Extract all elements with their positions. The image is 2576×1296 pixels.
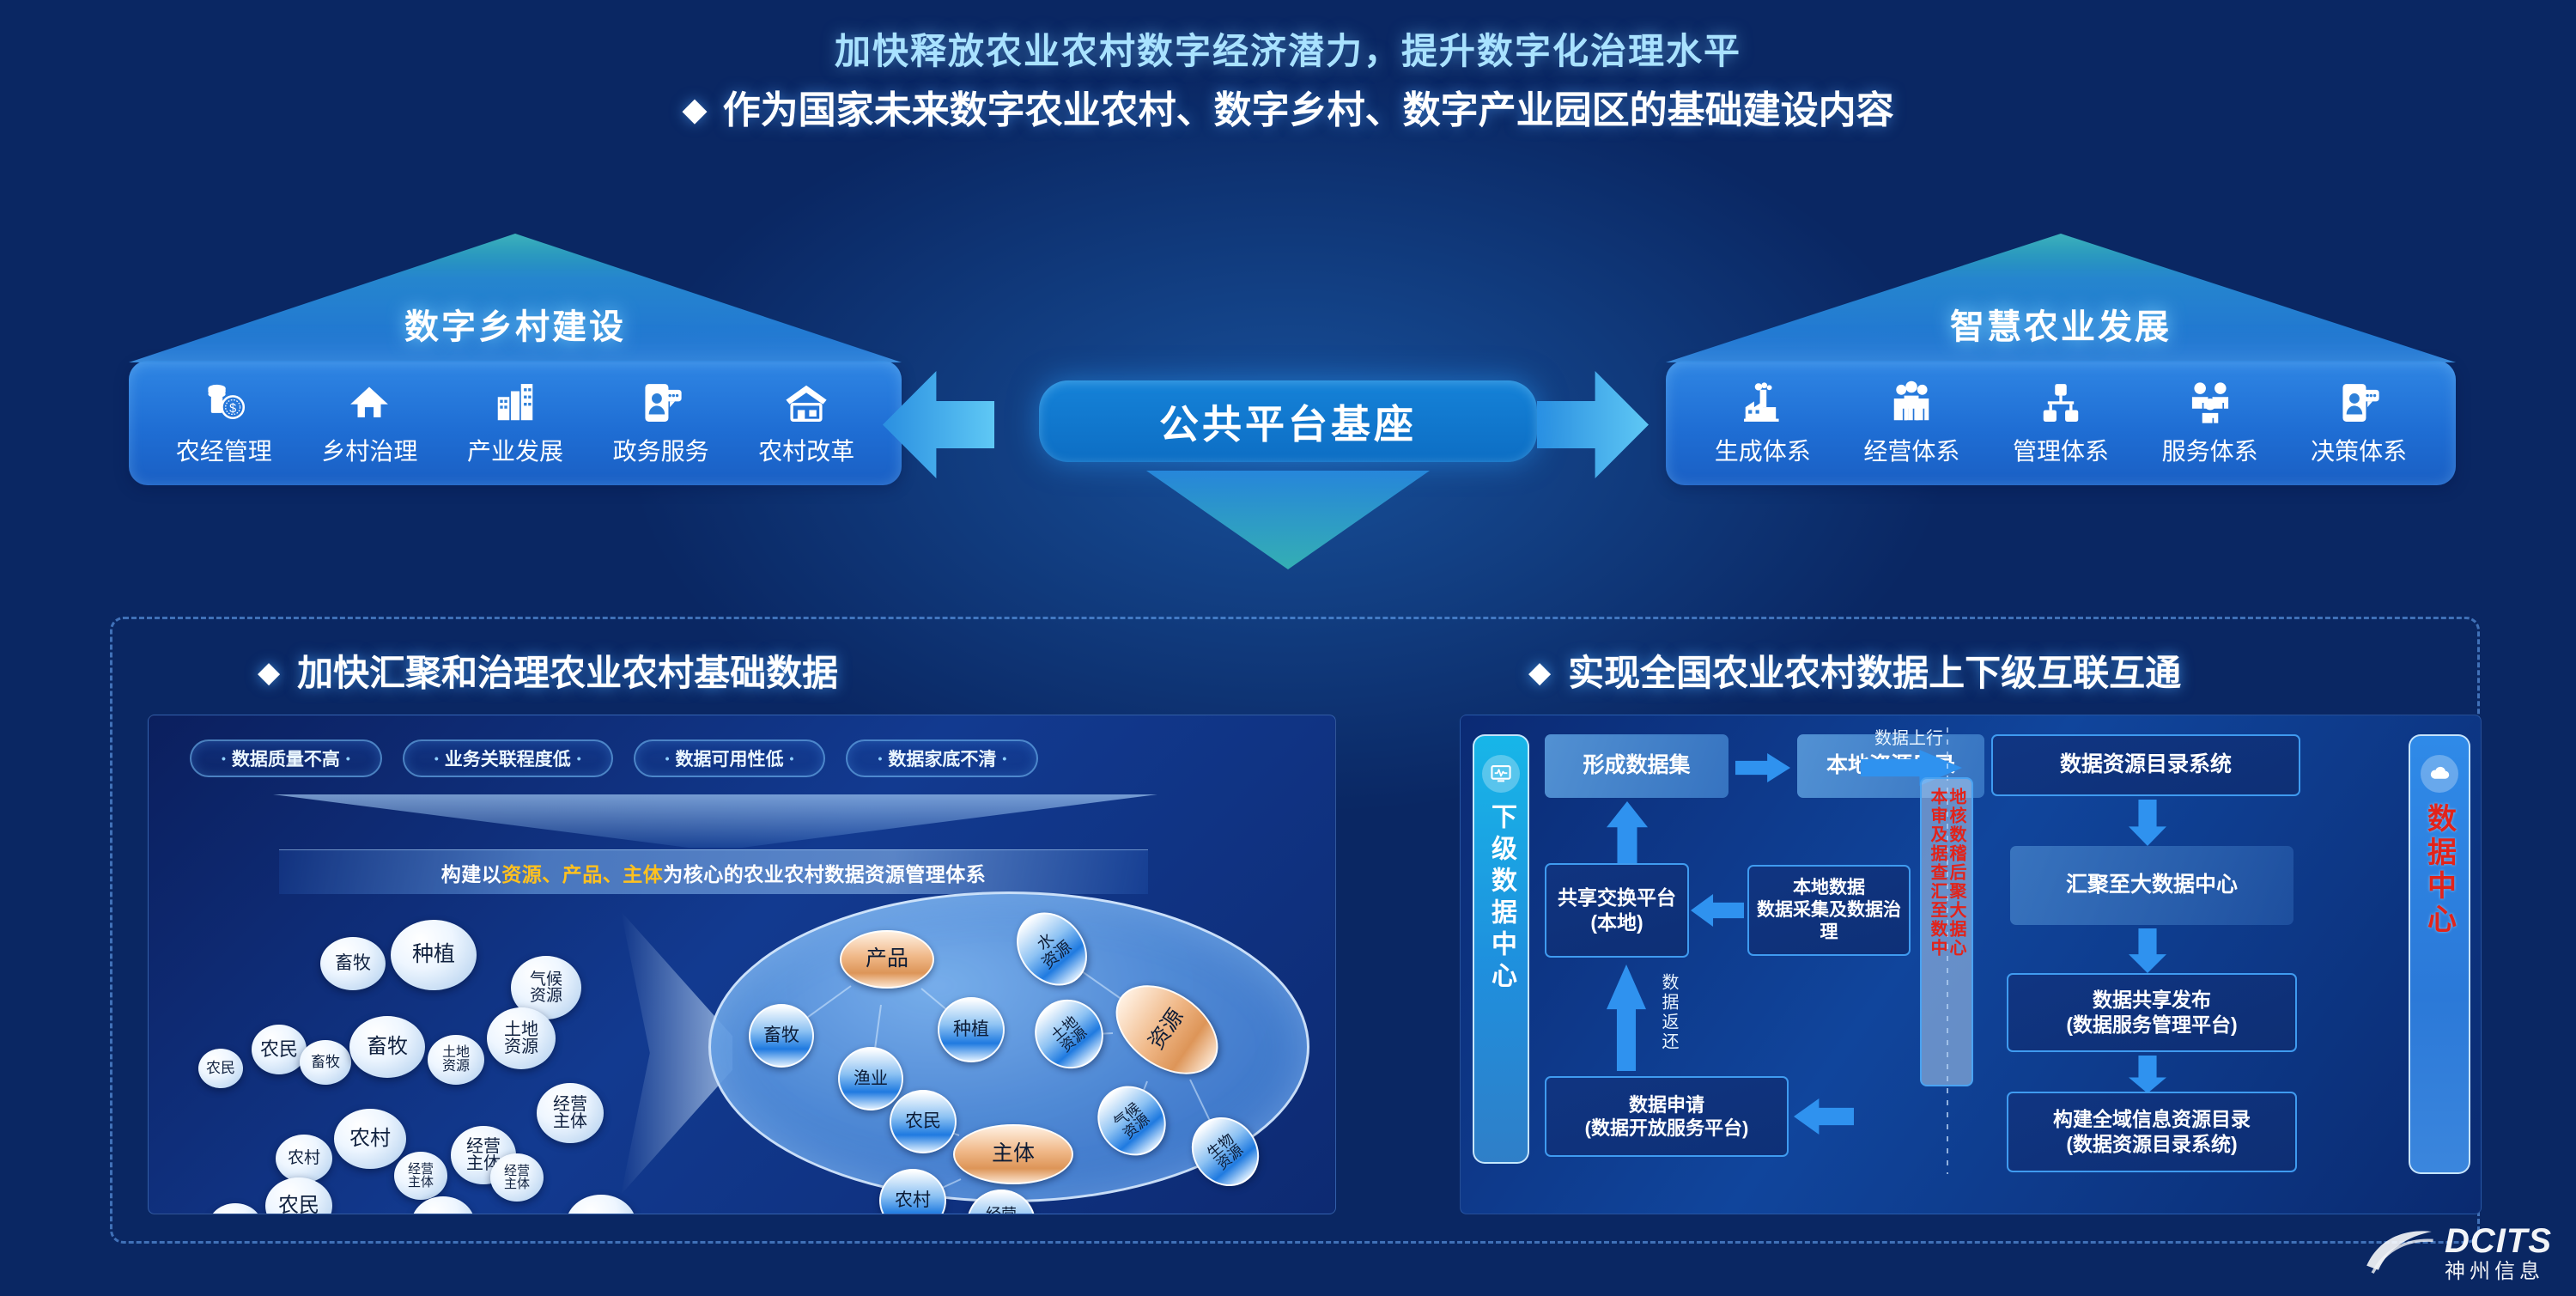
data-bubble: 农村 — [276, 1135, 332, 1183]
arrow-catalog-to-request-icon — [1794, 1098, 1854, 1135]
box-label: 数据资源目录系统 — [2060, 751, 2232, 778]
problem-pill-label: 业务关联程度低 — [445, 745, 571, 771]
node-connector — [805, 986, 852, 1020]
pillar-item-1[interactable]: 乡村治理 — [321, 380, 417, 467]
leaf-node: 农村 — [879, 1169, 946, 1214]
structured-data-ellipse: 产品水 资源资源畜牧种植土地 资源渔业农民气候 资源生物 资源主体农村经营 主体 — [708, 891, 1309, 1202]
pillar-item-4[interactable]: 农村改革 — [758, 380, 854, 467]
box-aggregate-to-bigdata-center[interactable]: 汇聚至大数据中心 — [2010, 846, 2293, 925]
logo-en: DCITS — [2445, 1224, 2552, 1258]
leaf-node: 水 资源 — [1002, 898, 1102, 1000]
node-connector — [1189, 1079, 1212, 1123]
bullet-dot-icon: • — [222, 751, 226, 765]
pillar-item-label: 决策体系 — [2311, 433, 2407, 467]
pillar-item-label: 管理体系 — [2013, 433, 2109, 467]
diamond-bullet-icon: ◆ — [1528, 656, 1551, 689]
data-bubble: 种植 — [391, 920, 477, 990]
core-system-banner: 构建以资源、产品、主体为核心的农业农村数据资源管理体系 — [279, 849, 1148, 894]
pillar-item-label: 政务服务 — [613, 433, 709, 467]
box-data-request[interactable]: 数据申请 (数据开放服务平台) — [1545, 1076, 1789, 1157]
logo-cn: 神州信息 — [2445, 1262, 2552, 1282]
roof-label: 数字乡村建设 — [129, 299, 902, 349]
leaf-node: 经营 主体 — [967, 1190, 1036, 1214]
leaf-node: 土地 资源 — [1021, 986, 1117, 1083]
factory-icon — [1740, 380, 1786, 426]
pillar-item-label: 乡村治理 — [321, 433, 417, 467]
funnel-shape — [273, 794, 1157, 848]
label-data-uplink: 数据上行 — [1874, 724, 1943, 749]
leaf-node: 畜牧 — [749, 1004, 814, 1068]
dcits-swoosh-icon — [2362, 1225, 2436, 1281]
data-bubble: 畜牧 — [300, 1040, 351, 1085]
data-center-bar[interactable]: 数据中心 — [2409, 734, 2470, 1174]
leaf-node: 气候 资源 — [1084, 1072, 1180, 1169]
bullet-dot-icon: • — [665, 751, 670, 765]
box-label: 汇聚至大数据中心 — [2066, 872, 2238, 898]
box-label: 数据共享发布 (数据服务管理平台) — [2066, 988, 2237, 1037]
arrow-platform-to-dataset-icon — [1607, 801, 1648, 863]
pillar-item-0[interactable]: $ 农经管理 — [176, 380, 272, 467]
farmhouse-icon — [783, 380, 829, 426]
box-label: 形成数据集 — [1583, 752, 1690, 779]
center-badge-label: 公共平台基座 — [1159, 393, 1417, 450]
pillar-item-label: 产业发展 — [467, 433, 563, 467]
page-subtitle: ◆作为国家未来数字农业农村、数字乡村、数字产业园区的基础建设内容 — [0, 79, 2576, 134]
bullet-dot-icon: • — [434, 751, 439, 765]
arrow-form-to-catalog-icon — [1735, 753, 1790, 782]
coin-stack-icon: $ — [201, 380, 247, 426]
bullet-dot-icon: • — [790, 751, 794, 765]
page-title: 加快释放农业农村数字经济潜力，提升数字化治理水平 — [0, 22, 2576, 75]
data-bubble: 畜牧 — [320, 937, 386, 990]
node-connector — [920, 989, 948, 1012]
banner-suffix: 为核心的农业农村数据资源管理体系 — [663, 858, 986, 887]
bullet-dot-icon: • — [1002, 751, 1006, 765]
cloud-icon — [2421, 755, 2458, 793]
subtitle-text: 作为国家未来数字农业农村、数字乡村、数字产业园区的基础建设内容 — [723, 89, 1894, 131]
sub-data-center-label: 下级数据中心 — [1482, 803, 1520, 994]
problem-pill-row: •数据质量不高••业务关联程度低••数据可用性低••数据家底不清• — [190, 739, 1038, 777]
problem-pill-label: 数据质量不高 — [232, 745, 340, 771]
box-local-data-collection[interactable]: 本地数据 数据采集及数据治理 — [1747, 865, 1911, 956]
leaf-node: 种植 — [938, 997, 1005, 1062]
roof-shape: 数字乡村建设 — [129, 234, 902, 362]
arrow-down-icon — [1146, 471, 1430, 569]
box-build-global-catalog[interactable]: 构建全域信息资源目录 (数据资源目录系统) — [2007, 1092, 2297, 1172]
box-form-dataset[interactable]: 形成数据集 — [1545, 734, 1728, 798]
problem-pill-label: 数据家底不清 — [888, 745, 996, 771]
box-label: 共享交换平台 (本地) — [1558, 885, 1676, 935]
problem-pill[interactable]: •业务关联程度低• — [403, 739, 613, 777]
slide-canvas: 加快释放农业农村数字经济潜力，提升数字化治理水平 ◆作为国家未来数字农业农村、数… — [0, 0, 2576, 1296]
pillar-item-label: 服务体系 — [2162, 433, 2258, 467]
box-label: 构建全域信息资源目录 (数据资源目录系统) — [2053, 1107, 2251, 1157]
people-group-icon — [1888, 380, 1935, 426]
red-note-col-left: 本审及据查汇至数中 — [1929, 788, 1946, 1076]
red-note-col-right: 地核数稽后聚大据心 — [1947, 788, 1965, 1076]
data-bubble: 经营 主体 — [537, 1083, 604, 1143]
data-bubble: 经营 主体 — [394, 1152, 447, 1200]
data-bubble: 渔业 — [566, 1195, 636, 1214]
pillar-item-label: 农经管理 — [176, 433, 272, 467]
data-bubble: 农民 — [198, 1049, 243, 1088]
mobile-service-icon — [638, 380, 684, 426]
data-bubble: 农民 — [209, 1203, 262, 1214]
arrow-request-to-platform-icon — [1607, 964, 1646, 1071]
red-note-box: 地核数稽后聚大据心 本审及据查汇至数中 — [1920, 777, 1973, 1086]
data-bubble: 土地 资源 — [487, 1007, 556, 1069]
diamond-bullet-icon: ◆ — [682, 92, 707, 128]
data-bubble: 土地 资源 — [428, 1035, 484, 1085]
arrow-catalog-to-aggregate-icon — [2129, 800, 2166, 846]
problem-pill[interactable]: •数据可用性低• — [634, 739, 826, 777]
pillar-items-row: $ 农经管理 乡村治理 产业发展 政务服务 农村改革 — [129, 361, 902, 485]
box-data-resource-catalog-system[interactable]: 数据资源目录系统 — [1991, 734, 2300, 796]
data-bubble: 农民 — [252, 1025, 307, 1074]
box-label: 本地数据 数据采集及数据治理 — [1756, 877, 1902, 945]
leaf-node: 生物 资源 — [1178, 1104, 1273, 1200]
org-chart-icon — [2038, 380, 2084, 426]
roof-shape: 智慧农业发展 — [1666, 234, 2456, 362]
svg-text:$: $ — [229, 401, 236, 415]
service-people-icon — [2187, 380, 2233, 426]
house-icon — [346, 380, 392, 426]
hub-node: 资源 — [1099, 967, 1234, 1092]
label-data-return: 数据返还 — [1656, 973, 1681, 1052]
monitor-pulse-icon — [1482, 755, 1520, 793]
buildings-icon — [492, 380, 538, 426]
pillar-digital-village: 数字乡村建设 $ 农经管理 乡村治理 产业发展 政务服务 农村改革 — [129, 234, 902, 485]
sub-data-center-bar[interactable]: 下级数据中心 — [1473, 734, 1529, 1164]
arrow-collection-to-platform-icon — [1691, 894, 1744, 927]
data-governance-panel: •数据质量不高••业务关联程度低••数据可用性低••数据家底不清• 构建以资源、… — [148, 715, 1336, 1214]
section-heading-left-text: 加快汇聚和治理农业农村基础数据 — [297, 653, 838, 693]
pillar-item-label: 经营体系 — [1863, 433, 1959, 467]
pillar-items-row: 生成体系 经营体系 管理体系 服务体系 决策体系 — [1666, 361, 2456, 485]
data-center-label: 数据中心 — [2419, 803, 2461, 937]
hub-node: 产品 — [840, 930, 934, 989]
pillar-item-label: 生成体系 — [1715, 433, 1811, 467]
section-heading-right: ◆实现全国农业农村数据上下级互联互通 — [1528, 644, 2181, 697]
data-bubble: 农民 — [265, 1177, 332, 1214]
banner-prefix: 构建以 — [441, 858, 502, 887]
roof-label: 智慧农业发展 — [1666, 299, 2456, 349]
box-share-exchange-platform[interactable]: 共享交换平台 (本地) — [1545, 863, 1689, 958]
problem-pill[interactable]: •数据家底不清• — [846, 739, 1038, 777]
pillar-item-3[interactable]: 服务体系 — [2162, 380, 2258, 467]
section-heading-right-text: 实现全国农业农村数据上下级互联互通 — [1568, 653, 2181, 693]
pillar-item-label: 农村改革 — [758, 433, 854, 467]
arrow-right-icon — [1537, 371, 1649, 478]
problem-pill[interactable]: •数据质量不高• — [190, 739, 382, 777]
arrow-aggregate-to-publish-icon — [2129, 928, 2166, 973]
hub-node: 主体 — [953, 1124, 1073, 1184]
pillar-item-2[interactable]: 产业发展 — [467, 380, 563, 467]
data-bubble: 畜牧 — [349, 1016, 425, 1078]
diamond-bullet-icon: ◆ — [258, 656, 280, 689]
arrow-publish-to-global-catalog-icon — [2129, 1056, 2166, 1093]
data-interconnect-panel: 下级数据中心 数据中心 形成数据集 本地资源目录 共享交换平台 (本地) 本地数… — [1460, 715, 2482, 1214]
data-bubble: 农村 — [334, 1109, 406, 1169]
problem-pill-label: 数据可用性低 — [676, 745, 784, 771]
bullet-dot-icon: • — [878, 751, 882, 765]
box-label: 数据申请 (数据开放服务平台) — [1585, 1093, 1749, 1141]
pillar-item-4[interactable]: 决策体系 — [2311, 380, 2407, 467]
company-logo: DCITS 神州信息 — [2362, 1224, 2552, 1282]
data-bubble: 经营 主体 — [490, 1153, 544, 1202]
pillar-item-0[interactable]: 生成体系 — [1715, 380, 1811, 467]
pillar-smart-agriculture: 智慧农业发展 生成体系 经营体系 管理体系 服务体系 决策体系 — [1666, 234, 2456, 485]
mobile-decision-icon — [2336, 380, 2382, 426]
box-data-share-publish[interactable]: 数据共享发布 (数据服务管理平台) — [2007, 973, 2297, 1052]
bullet-dot-icon: • — [577, 751, 581, 765]
banner-highlight: 资源、产品、主体 — [501, 858, 663, 887]
node-connector — [874, 1004, 882, 1050]
bullet-dot-icon: • — [346, 751, 350, 765]
public-platform-base-badge[interactable]: 公共平台基座 — [1039, 380, 1537, 462]
section-heading-left: ◆加快汇聚和治理农业农村基础数据 — [258, 644, 838, 697]
pillar-item-3[interactable]: 政务服务 — [613, 380, 709, 467]
pillar-item-1[interactable]: 经营体系 — [1863, 380, 1959, 467]
node-connector — [1082, 970, 1123, 1001]
leaf-node: 农民 — [890, 1090, 957, 1153]
leaf-node: 渔业 — [838, 1047, 903, 1110]
pillar-item-2[interactable]: 管理体系 — [2013, 380, 2109, 467]
